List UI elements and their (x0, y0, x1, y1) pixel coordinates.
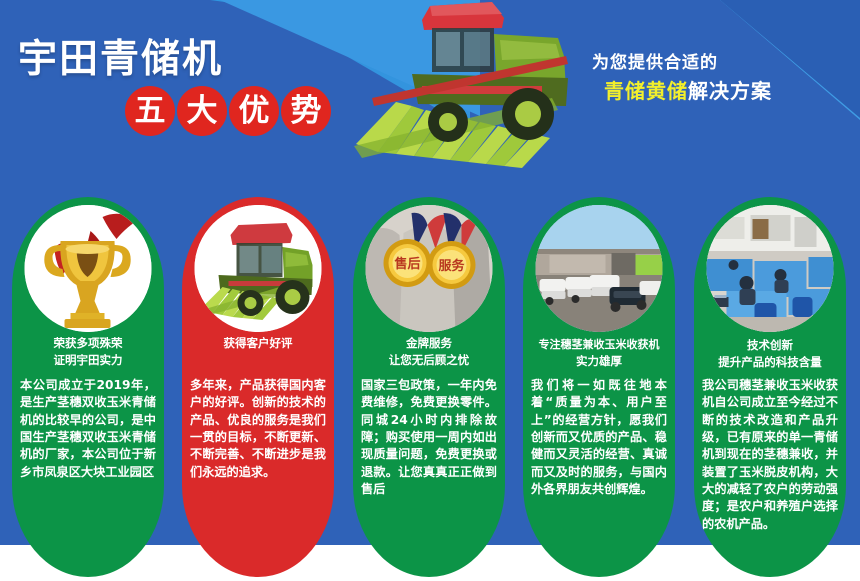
card-title-focus-harvester: 专注穗茎兼收玉米收获机 实力雄厚 (523, 337, 675, 370)
badge-character-2: 大 (177, 86, 227, 136)
header-right-text: 为您提供合适的 青储黄储解决方案 (592, 52, 847, 106)
card-title-line2: 提升产品的科技含量 (696, 354, 844, 371)
card-body-customer-reviews: 多年来，产品获得国内客户的好评。创新的技术的产品、优良的服务是我们一贯的目标，不… (182, 377, 334, 481)
badge-character-1: 五 (125, 86, 175, 136)
header-subtitle-line1: 为您提供合适的 (592, 52, 847, 76)
header-subtitle-line2: 青储黄储解决方案 (592, 76, 847, 106)
factory-yard-icon (536, 205, 663, 332)
card-title-tech-innovation: 技术创新 提升产品的科技含量 (694, 337, 846, 370)
card-title-line1: 技术创新 (696, 337, 844, 354)
header-left-text: 宇田青储机 (18, 40, 378, 79)
card-title-line2: 证明宇田实力 (14, 352, 162, 369)
header-subtitle-highlight: 青储黄储 (604, 79, 688, 103)
card-title-line1: 金牌服务 (355, 335, 503, 352)
card-title-line1: 荣获多项殊荣 (14, 335, 162, 352)
card-title-line1: 获得客户好评 (184, 335, 332, 352)
page-title: 宇田青储机 (18, 40, 378, 79)
advantage-cards: 荣获多项殊荣 证明宇田实力 本公司成立于2019年，是生产茎穗双收玉米青储机的比… (0, 197, 860, 581)
badge-character-3: 优 (229, 86, 279, 136)
card-title-awards: 荣获多项殊荣 证明宇田实力 (12, 335, 164, 368)
card-body-focus-harvester: 我们将一如既往地本着“质量为本、用户至上”的经营方针，愿我们创新而又优质的产品、… (523, 377, 675, 498)
advantage-card-awards[interactable]: 荣获多项殊荣 证明宇田实力 本公司成立于2019年，是生产茎穗双收玉米青储机的比… (12, 197, 164, 577)
card-title-line2: 让您无后顾之忧 (355, 352, 503, 369)
harvester-icon (195, 205, 322, 332)
badge-character-4: 势 (281, 86, 331, 136)
advantage-card-tech-innovation[interactable]: 技术创新 提升产品的科技含量 我公司穗茎兼收玉米收获机自公司成立至今经过不断的技… (694, 197, 846, 577)
card-title-line2: 实力雄厚 (525, 353, 673, 370)
medal-right-label: 服务 (438, 258, 465, 274)
trophy-icon (25, 205, 152, 332)
promo-banner-page: 宇田青储机 五 大 优 势 为您提供合适的 青储黄储解决方案 (0, 0, 860, 581)
card-title-line1: 专注穗茎兼收玉米收获机 (525, 337, 673, 353)
card-title-customer-reviews: 获得客户好评 (182, 335, 334, 352)
gold-medals-icon: 售后 服务 (366, 205, 493, 332)
advantage-card-customer-reviews[interactable]: 获得客户好评 多年来，产品获得国内客户的好评。创新的技术的产品、优良的服务是我们… (182, 197, 334, 577)
header-subtitle-rest: 解决方案 (688, 79, 772, 103)
card-title-gold-service: 金牌服务 让您无后顾之忧 (353, 335, 505, 368)
harvester-machine-photo (352, 0, 622, 184)
office-workstations-icon (707, 205, 834, 332)
card-body-tech-innovation: 我公司穗茎兼收玉米收获机自公司成立至今经过不断的技术改造和产品升级，已有原来的单… (694, 377, 846, 533)
card-body-awards: 本公司成立于2019年，是生产茎穗双收玉米青储机的比较早的公司，是中国生产茎穗双… (12, 377, 164, 481)
advantage-card-gold-service[interactable]: 售后 服务 金牌服务 让您无后顾之忧 国家三包政策，一年内免费维修，免费更换零件… (353, 197, 505, 577)
advantage-badges: 五 大 优 势 (125, 86, 331, 136)
card-body-gold-service: 国家三包政策，一年内免费维修，免费更换零件。同城24小时内排除故障；购买使用一周… (353, 377, 505, 498)
medal-left-label: 售后 (394, 256, 420, 272)
advantage-card-focus-harvester[interactable]: 专注穗茎兼收玉米收获机 实力雄厚 我们将一如既往地本着“质量为本、用户至上”的经… (523, 197, 675, 577)
